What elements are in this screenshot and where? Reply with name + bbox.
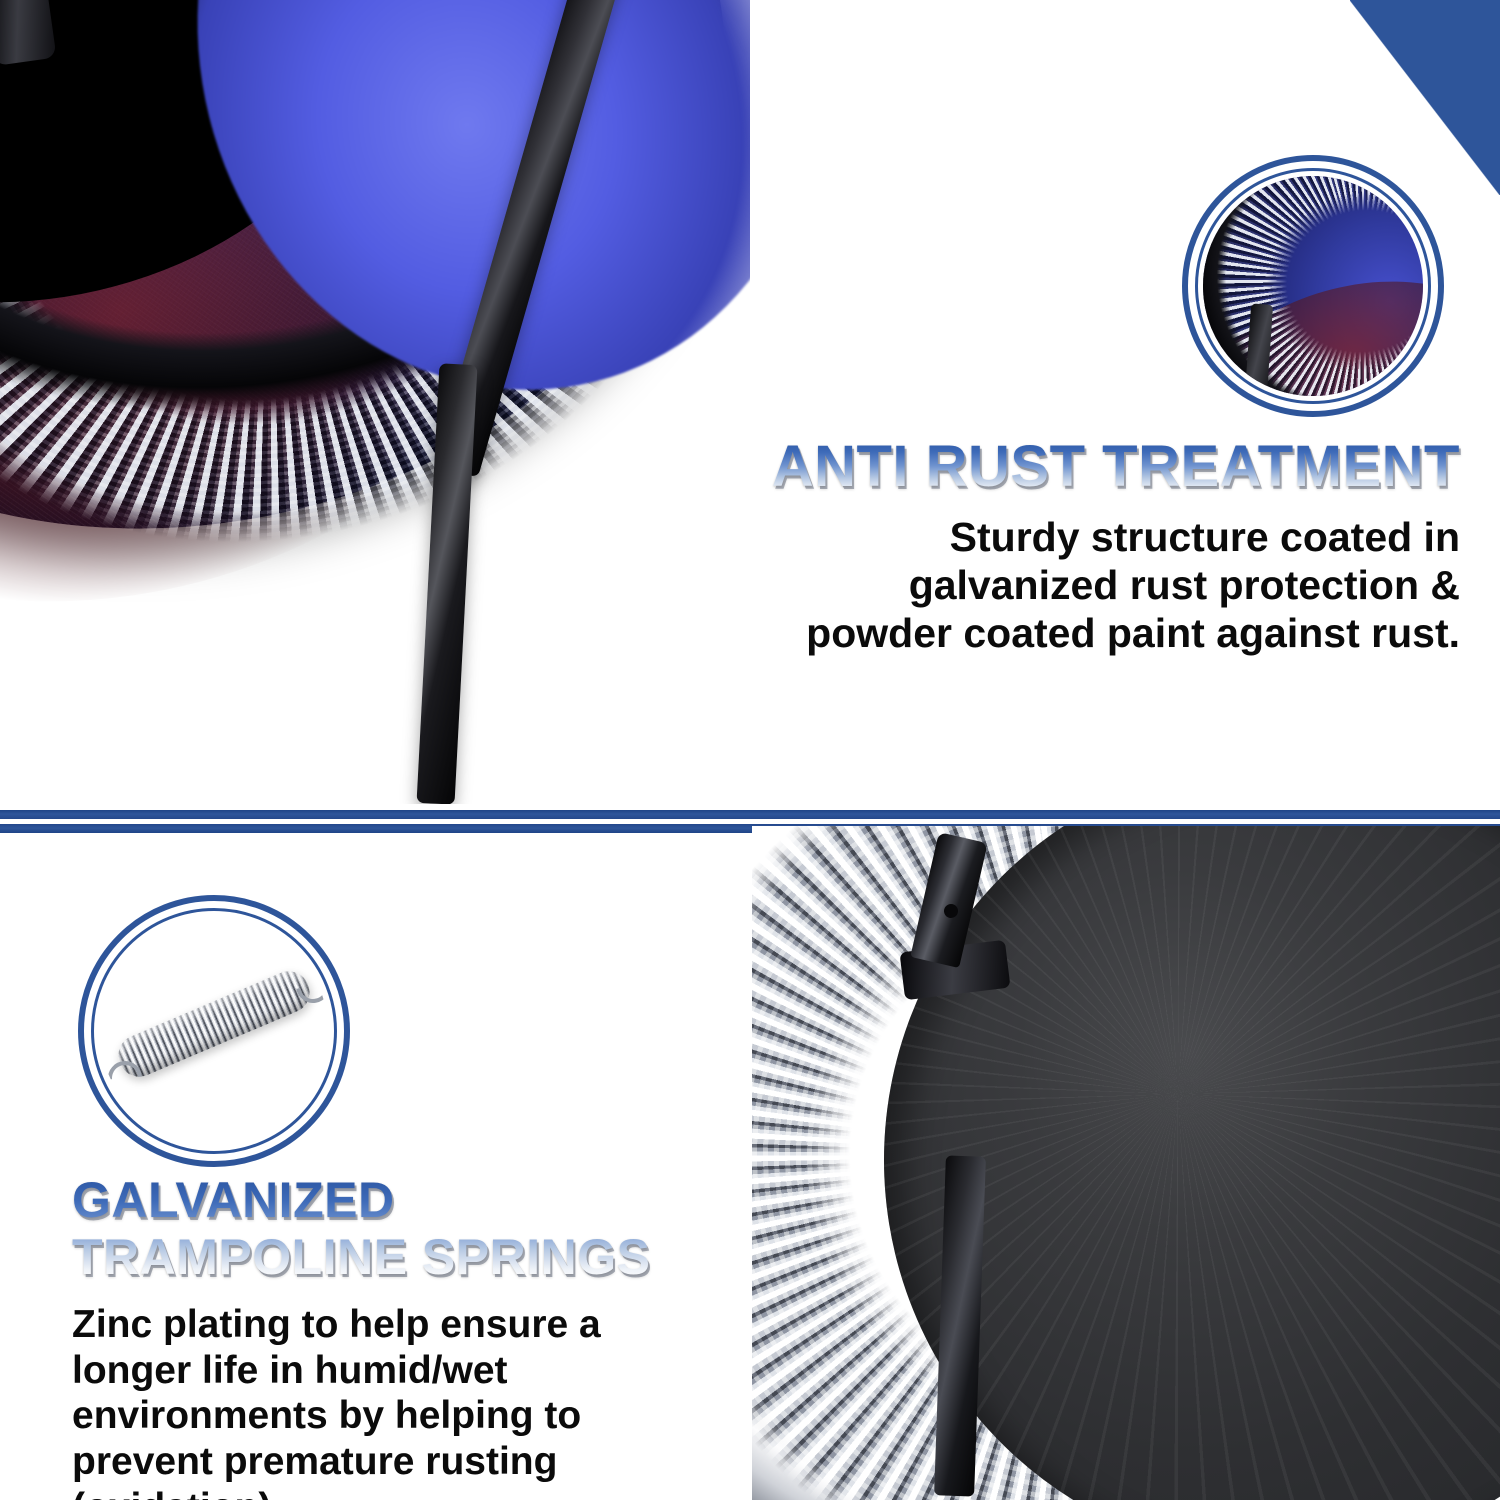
feature-body-springs: Zinc plating to help ensure a longer lif… xyxy=(72,1302,712,1500)
feature-headline-springs: GALVANIZED TRAMPOLINE SPRINGS xyxy=(72,1175,712,1282)
feature-headline-springs-line2: TRAMPOLINE SPRINGS xyxy=(72,1232,712,1282)
product-photo-top-left xyxy=(0,0,750,804)
product-photo-bottom-right xyxy=(752,826,1500,1500)
feature-block-springs: GALVANIZED TRAMPOLINE SPRINGS Zinc plati… xyxy=(72,1175,712,1500)
inset-circle-spring xyxy=(78,895,350,1167)
feature-body-anti-rust: Sturdy structure coated in galvanized ru… xyxy=(770,514,1460,658)
feature-headline-springs-line1: GALVANIZED xyxy=(72,1172,395,1228)
photo-stage xyxy=(752,826,1500,1500)
photo-stage xyxy=(0,0,750,804)
leg-joint xyxy=(0,0,57,66)
divider-bar-top xyxy=(0,810,1500,819)
inset-circle-anti-rust xyxy=(1182,155,1444,417)
inset-ring-outer xyxy=(1182,155,1444,417)
inset-ring-outer xyxy=(78,895,350,1167)
feature-headline-anti-rust: ANTI RUST TREATMENT xyxy=(770,438,1460,496)
infographic-page: ANTI RUST TREATMENT Sturdy structure coa… xyxy=(0,0,1500,1500)
feature-block-anti-rust: ANTI RUST TREATMENT Sturdy structure coa… xyxy=(770,438,1460,658)
